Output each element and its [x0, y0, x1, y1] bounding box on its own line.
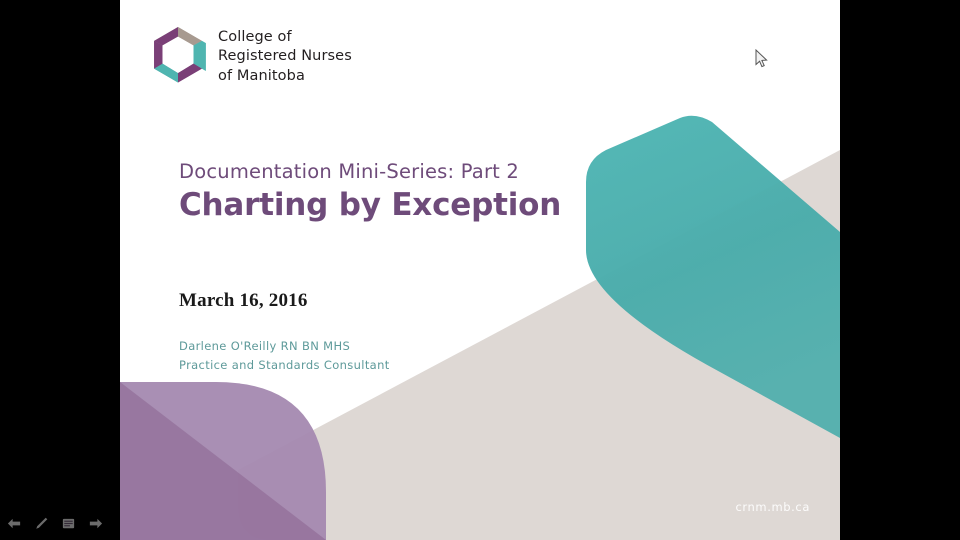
next-slide-button[interactable]	[87, 515, 104, 532]
presentation-viewer: College of Registered Nurses of Manitoba…	[0, 0, 960, 540]
pen-icon	[34, 516, 49, 531]
series-eyebrow: Documentation Mini-Series: Part 2	[179, 160, 609, 183]
title-group: Documentation Mini-Series: Part 2 Charti…	[179, 160, 609, 222]
slides-overview-button[interactable]	[60, 515, 77, 532]
website-url: crnm.mb.ca	[735, 500, 810, 514]
draw-tool-button[interactable]	[33, 515, 50, 532]
organization-name: College of Registered Nurses of Manitoba	[218, 28, 352, 85]
slide-title: Charting by Exception	[179, 189, 609, 222]
presenter-block: Darlene O'Reilly RN BN MHS Practice and …	[179, 337, 390, 374]
back-arrow-icon	[7, 516, 22, 531]
previous-slide-button[interactable]	[6, 515, 23, 532]
player-toolbar[interactable]	[0, 511, 110, 536]
forward-arrow-icon	[88, 516, 103, 531]
presenter-name: Darlene O'Reilly RN BN MHS	[179, 337, 390, 356]
slides-icon	[61, 516, 76, 531]
slide-canvas: College of Registered Nurses of Manitoba…	[120, 0, 840, 540]
presenter-role: Practice and Standards Consultant	[179, 356, 390, 375]
organization-logo: College of Registered Nurses of Manitoba	[150, 27, 352, 87]
crnm-hexagon-logo-icon	[150, 27, 206, 87]
presentation-date: March 16, 2016	[179, 290, 308, 312]
